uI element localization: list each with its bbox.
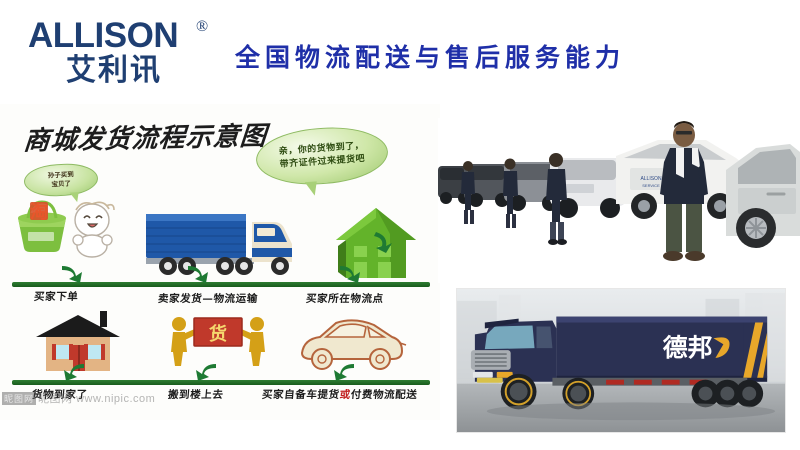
flow-arrow-down-icon [372, 230, 394, 254]
cartoon-baby-icon [62, 196, 120, 258]
step-label-seller-ship: 卖家发货—物流运输 [157, 291, 258, 306]
svg-text:SERVICE: SERVICE [642, 183, 660, 188]
pickup-part2: 付费物流配送 [350, 389, 418, 401]
step-label-carry-upstairs: 搬到楼上去 [167, 387, 224, 402]
page-title: 全国物流配送与售后服务能力 [235, 38, 765, 74]
step-label-self-pickup: 买家自备车提货或付费物流配送 [261, 387, 418, 402]
movers-box-icon: 货 [163, 304, 273, 376]
slide-canvas: ALLISON ® 艾利讯 全国物流配送与售后服务能力 商城发货流程示意图 孙子… [0, 0, 800, 450]
service-vehicle-fleet-photo: ALLISON SERVICE [438, 118, 800, 283]
deppon-logistics-truck-photo: 德邦 [456, 288, 786, 433]
speech-bubble-buy: 孙子买到 宝贝了 [23, 162, 99, 198]
truck-brand-text: 德邦 [663, 333, 713, 362]
diagram-title: 商城发货流程示意图 [22, 115, 269, 157]
blue-truck-icon [142, 204, 300, 282]
bubble-buy-line2: 宝贝了 [51, 179, 71, 189]
flow-arrow-4-icon [60, 362, 86, 382]
slide-header: ALLISON ® 艾利讯 全国物流配送与售后服务能力 [0, 0, 800, 100]
watermark-badge: 昵图网 [2, 392, 36, 405]
flow-arrow-3-icon [338, 264, 364, 284]
logo-chinese-name: 艾利讯 [28, 55, 200, 87]
speech-bubble-delivery-notice: 亲，你的货物到了， 带齐证件过来提货吧 [254, 123, 390, 188]
step-label-logistics-point: 买家所在物流点 [305, 291, 384, 306]
flow-arrow-1-icon [60, 264, 86, 284]
pickup-part1: 买家自备车提货 [261, 389, 340, 401]
allison-logo: ALLISON ® 艾利讯 [28, 18, 218, 88]
svg-text:ALLISON: ALLISON [640, 176, 662, 182]
shipping-flow-diagram: 商城发货流程示意图 孙子买到 宝贝了 亲，你的货物到了， 带齐证件过来提货吧 淘 [0, 104, 440, 420]
flow-arrow-2-icon [186, 264, 212, 284]
step-label-buyer-order: 买家下单 [33, 289, 79, 304]
svg-text:淘: 淘 [30, 201, 48, 223]
box-glyph: 货 [209, 323, 227, 345]
stock-image-watermark: 昵图网昵图网 www.nipic.com [2, 390, 155, 406]
watermark-url: 昵图网 www.nipic.com [38, 393, 155, 405]
flow-arrow-5-icon [192, 362, 218, 382]
flow-arrow-6-icon [330, 362, 356, 382]
logo-wordmark: ALLISON [28, 18, 218, 53]
registered-trademark-icon: ® [196, 18, 208, 36]
